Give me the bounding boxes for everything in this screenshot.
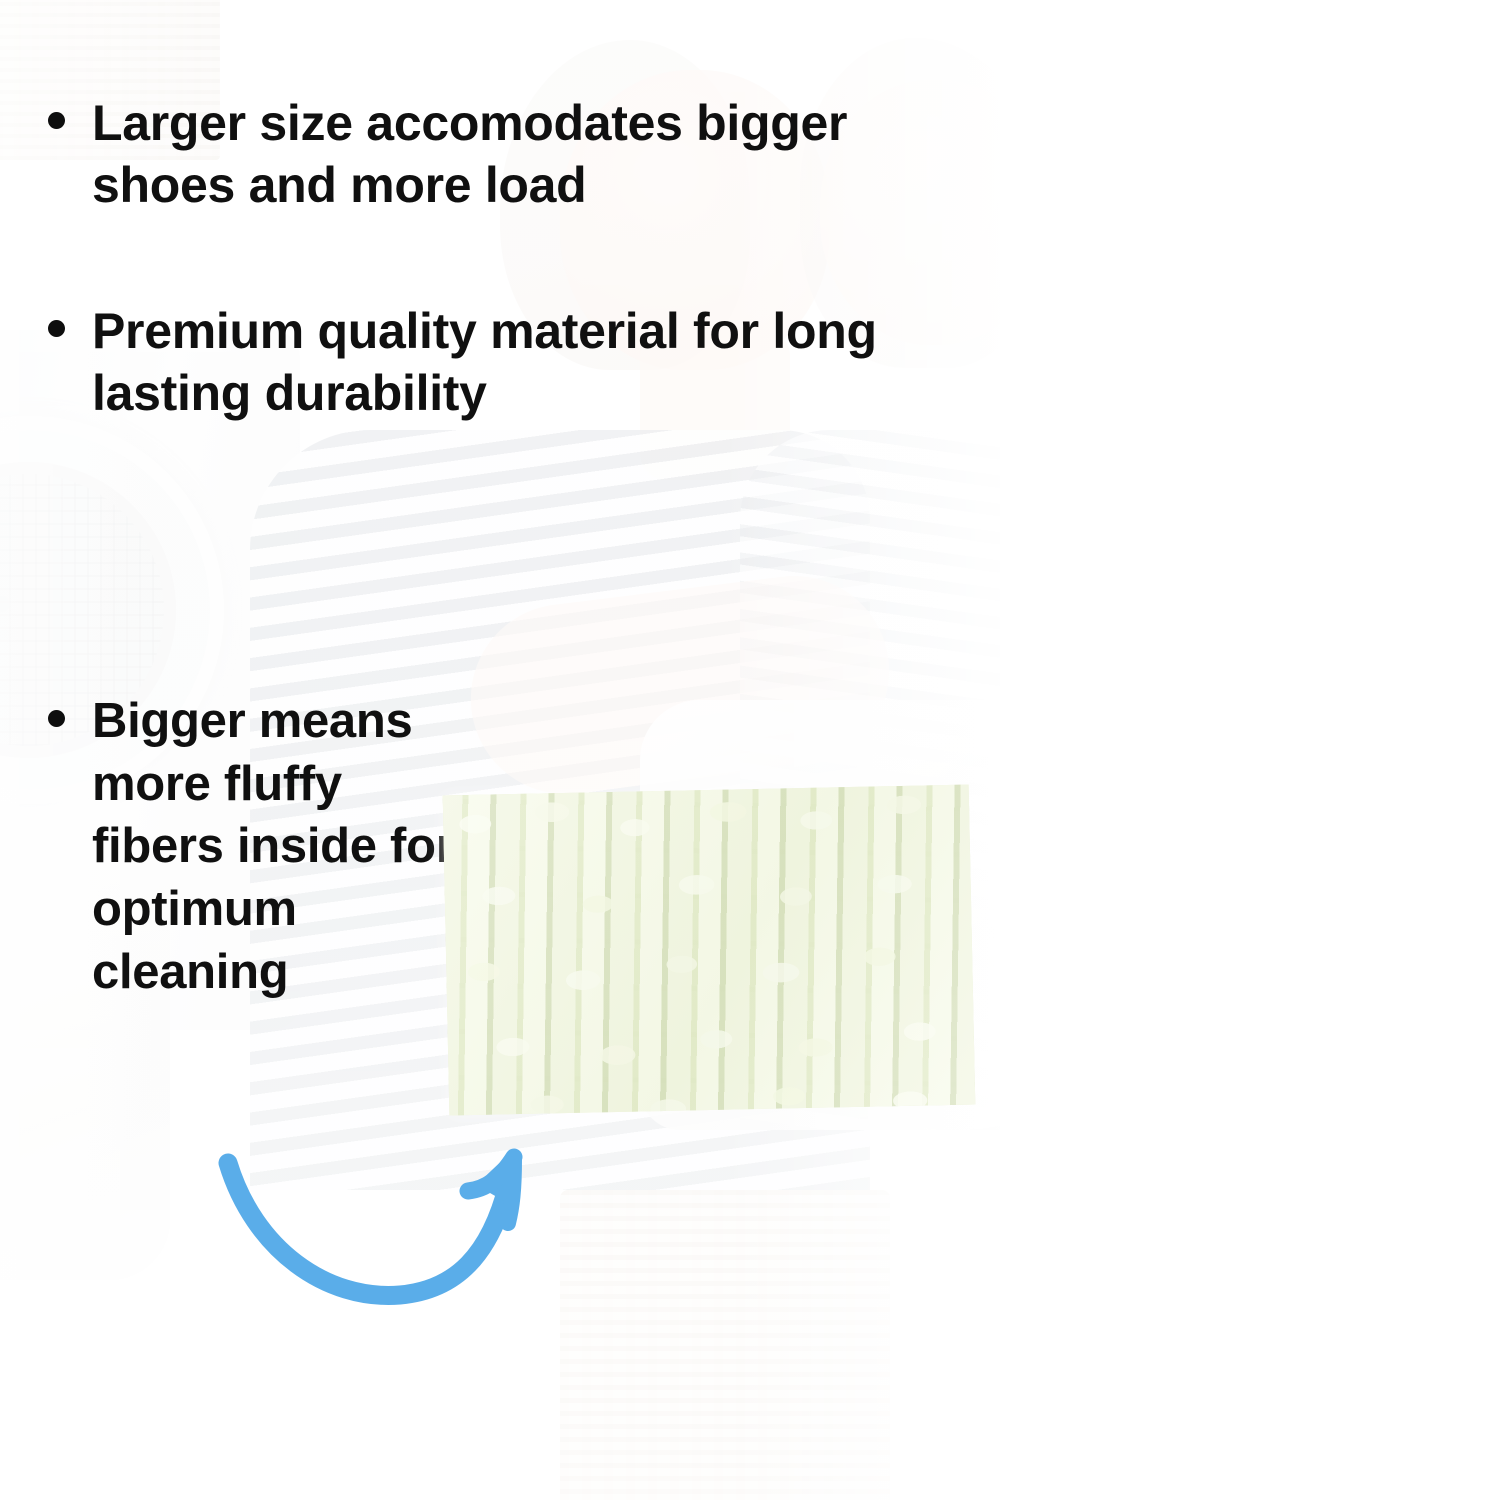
feature-bullet-3-text: Bigger means more fluffy fibers inside f… [92,690,468,1004]
feature-bullet-1-text: Larger size accomodates bigger shoes and… [92,92,878,216]
product-infographic: Larger size accomodates bigger shoes and… [0,0,1496,1500]
fiber-shading [443,785,976,1116]
curved-arrow-icon [218,1145,578,1345]
feature-bullet-1: Larger size accomodates bigger shoes and… [48,92,878,216]
feature-bullet-3: Bigger means more fluffy fibers inside f… [48,690,468,1004]
bullet-dot-icon [48,112,65,129]
product-comparison-column: 19 cm Calluce 39 [1000,0,1496,1500]
bullet-dot-icon [48,320,65,337]
chenille-fiber-closeup [443,785,976,1116]
feature-bullet-2-text: Premium quality material for long lastin… [92,300,888,424]
feature-bullet-2: Premium quality material for long lastin… [48,300,888,424]
bullet-dot-icon [48,710,65,727]
